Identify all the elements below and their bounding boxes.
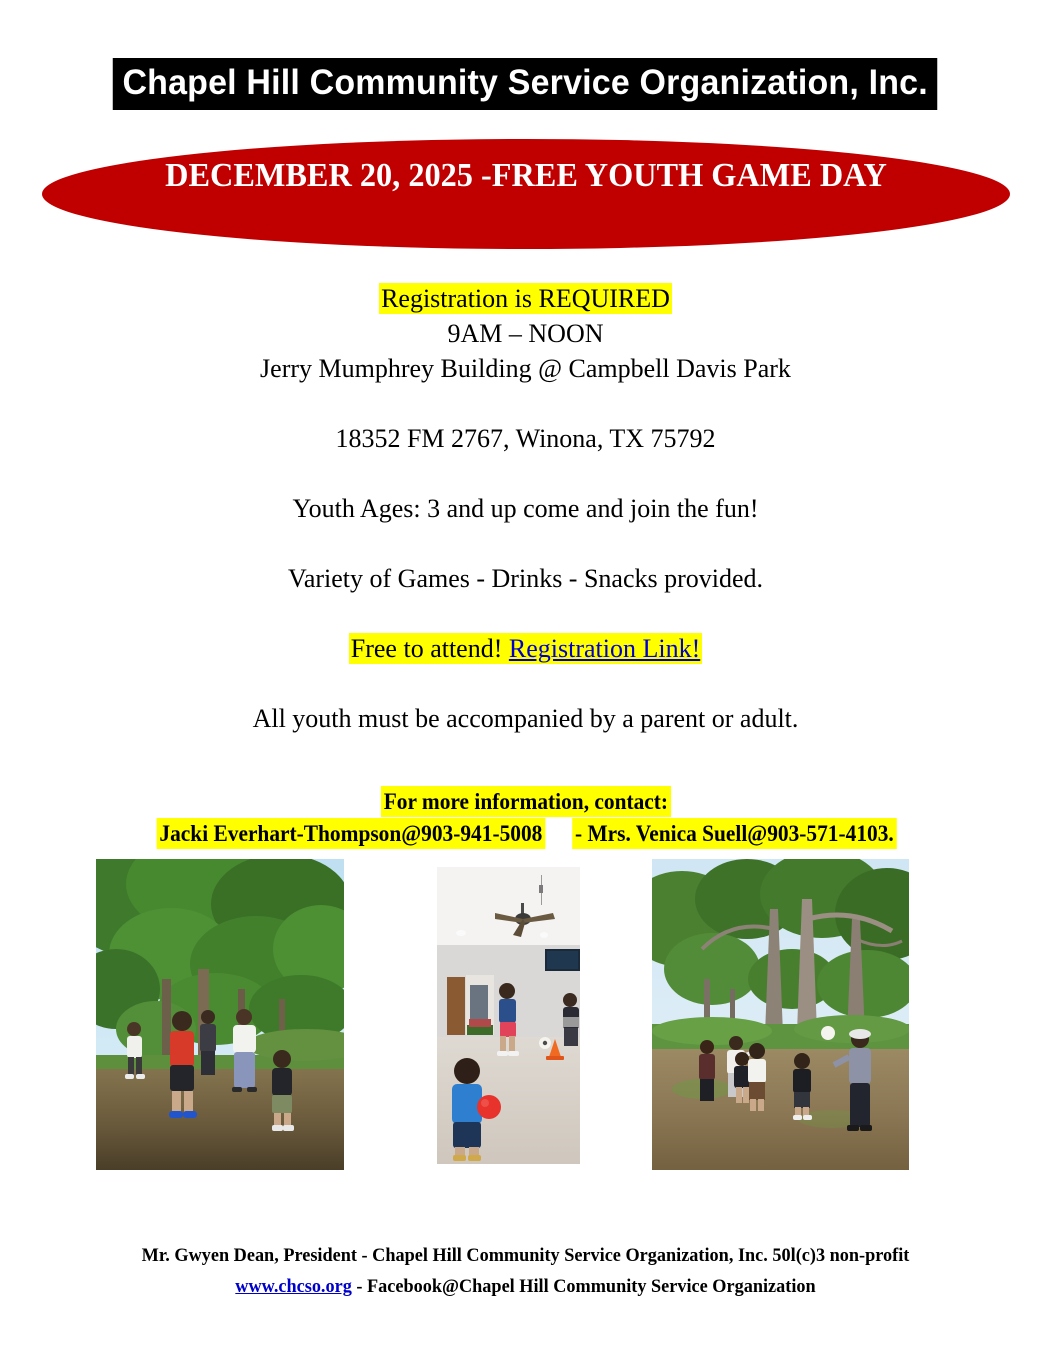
contact-person-two: - Mrs. Venica Suell@903-571-4103.: [572, 818, 896, 849]
free-to-attend-text: Free to attend!: [351, 634, 509, 663]
event-time: 9AM – NOON: [0, 316, 1051, 351]
supervision-note: All youth must be accompanied by a paren…: [0, 701, 1051, 736]
contact-person-one: Jacki Everhart-Thompson@903-941-5008: [157, 818, 546, 849]
footer-links-line: www.chcso.org - Facebook@Chapel Hill Com…: [21, 1271, 1030, 1302]
footer-president-line: Mr. Gwyen Dean, President - Chapel Hill …: [21, 1240, 1030, 1271]
registration-required-text: Registration is REQUIRED: [379, 283, 672, 314]
spacer: [0, 526, 1051, 561]
photo-gallery: [0, 856, 1051, 1176]
organization-name: Chapel Hill Community Service Organizati…: [113, 58, 938, 110]
spacer: [0, 386, 1051, 421]
registration-required-line: Registration is REQUIRED: [0, 281, 1051, 316]
photo-park-group-image: [96, 859, 344, 1170]
event-title-text: DECEMBER 20, 2025 -FREE YOUTH GAME DAY: [123, 154, 929, 197]
organization-banner: Chapel Hill Community Service Organizati…: [0, 58, 1051, 110]
contact-section: For more information, contact: Jacki Eve…: [0, 786, 1051, 849]
contact-people-line: Jacki Everhart-Thompson@903-941-5008- Mr…: [0, 818, 1051, 849]
contact-heading: For more information, contact:: [381, 786, 671, 817]
footer: Mr. Gwyen Dean, President - Chapel Hill …: [0, 1240, 1051, 1302]
photo-park-ballgame-image: [652, 859, 909, 1170]
youth-ages-note: Youth Ages: 3 and up come and join the f…: [0, 491, 1051, 526]
website-link[interactable]: www.chcso.org: [235, 1276, 352, 1297]
event-address: 18352 FM 2767, Winona, TX 75792: [0, 421, 1051, 456]
photo-park-group: [96, 859, 344, 1170]
registration-link[interactable]: Registration Link!: [509, 634, 700, 663]
photo-indoor-gym-image: [437, 867, 580, 1164]
contact-heading-line: For more information, contact:: [0, 786, 1051, 817]
footer-social-text: - Facebook@Chapel Hill Community Service…: [352, 1276, 816, 1297]
event-details: Registration is REQUIRED 9AM – NOON Jerr…: [0, 281, 1051, 736]
offerings-note: Variety of Games - Drinks - Snacks provi…: [0, 561, 1051, 596]
free-to-attend-highlight: Free to attend! Registration Link!: [349, 633, 702, 664]
event-venue: Jerry Mumphrey Building @ Campbell Davis…: [0, 351, 1051, 386]
spacer: [0, 596, 1051, 631]
spacer: [0, 456, 1051, 491]
spacer: [0, 666, 1051, 701]
photo-park-ballgame: [652, 859, 909, 1170]
free-to-attend-line: Free to attend! Registration Link!: [0, 631, 1051, 666]
photo-indoor-gym: [437, 867, 580, 1164]
event-title-ellipse: DECEMBER 20, 2025 -FREE YOUTH GAME DAY: [42, 139, 1010, 249]
